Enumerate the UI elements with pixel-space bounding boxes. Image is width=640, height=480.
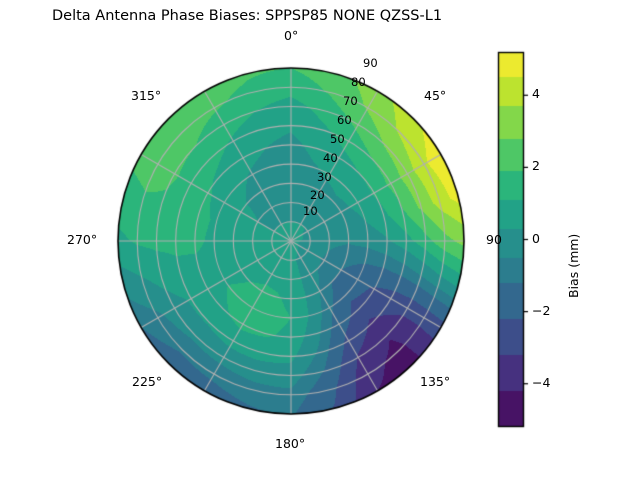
colorbar-tick-label-0: −4	[532, 377, 550, 390]
azimuth-tick-label-0: 0°	[284, 30, 298, 43]
radial-tick-label-5: 60	[337, 115, 352, 127]
azimuth-tick-label-3: 135°	[420, 376, 450, 389]
azimuth-tick-label-6: 270°	[67, 234, 97, 247]
colorbar-tick-label-1: −2	[532, 305, 550, 318]
radial-tick-label-2: 30	[317, 172, 332, 184]
colorbar-tick-label-4: 4	[532, 88, 540, 101]
radial-tick-label-6: 70	[343, 96, 358, 108]
page-title: Delta Antenna Phase Biases: SPPSP85 NONE…	[52, 9, 442, 24]
colorbar-tick-label-3: 2	[532, 160, 540, 173]
figure-canvas-root: Delta Antenna Phase Biases: SPPSP85 NONE…	[0, 0, 640, 480]
azimuth-tick-label-4: 180°	[275, 438, 305, 451]
radial-tick-label-0: 10	[303, 206, 318, 218]
azimuth-tick-label-2: 90	[486, 234, 502, 247]
colorbar-tick-label-2: 0	[532, 233, 540, 246]
radial-tick-label-4: 50	[330, 134, 345, 146]
azimuth-tick-label-1: 45°	[424, 90, 446, 103]
radial-tick-label-8: 90	[363, 58, 378, 70]
radial-tick-label-3: 40	[323, 153, 338, 165]
azimuth-tick-label-7: 315°	[131, 90, 161, 103]
radial-tick-label-1: 20	[310, 190, 325, 202]
radial-tick-label-7: 80	[351, 77, 366, 89]
colorbar-axis-label: Bias (mm)	[568, 234, 581, 298]
azimuth-tick-label-5: 225°	[132, 376, 162, 389]
